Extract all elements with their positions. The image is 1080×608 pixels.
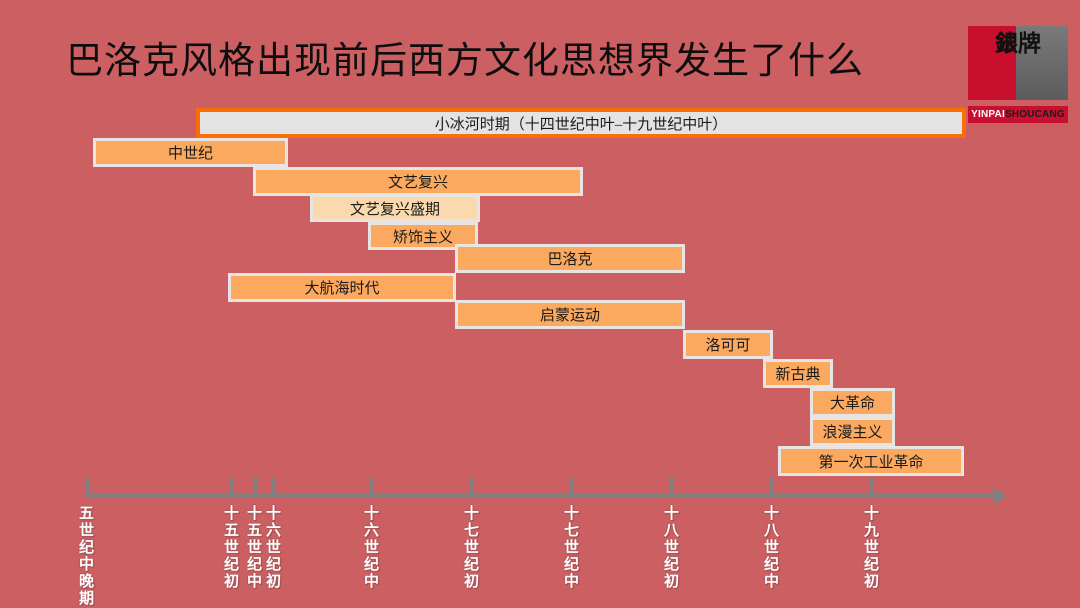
axis-tick-label: 十五世纪初 [223, 505, 238, 590]
logo-wordmark: YINPAISHOUCANG [968, 106, 1068, 123]
timeline-bar: 浪漫主义 [810, 417, 895, 446]
axis-tick-label: 十五世纪中 [246, 505, 261, 590]
timeline-bar-label: 大航海时代 [304, 277, 379, 298]
axis-tick-label: 十八世纪初 [663, 505, 678, 590]
axis-tick-label: 五世纪中晚期 [78, 505, 93, 607]
timeline-bar-label: 新古典 [775, 363, 820, 384]
timeline-bar: 第一次工业革命 [778, 446, 964, 476]
timeline-bar-label: 中世纪 [168, 142, 213, 163]
brand-logo: 法藏 銀牌 YINPAISHOUCANG [968, 26, 1068, 126]
axis-tick-label: 十六世纪中 [363, 505, 378, 590]
axis-tick-label: 十六世纪初 [265, 505, 280, 590]
axis-tick-label: 十八世纪中 [763, 505, 778, 590]
timeline-bar-label: 小冰河时期（十四世纪中叶–十九世纪中叶） [435, 113, 728, 134]
timeline-bar: 大航海时代 [228, 273, 456, 302]
axis-tick-label: 十九世纪初 [863, 505, 878, 590]
timeline-bar-label: 大革命 [830, 392, 875, 413]
timeline-bar: 中世纪 [93, 138, 288, 167]
timeline-bar-label: 矫饰主义 [393, 226, 453, 247]
timeline-bar: 文艺复兴 [253, 167, 583, 196]
slide-canvas: 巴洛克风格出现前后西方文化思想界发生了什么 法藏 銀牌 YINPAISHOUCA… [0, 0, 1080, 608]
timeline-bar: 洛可可 [683, 330, 773, 359]
page-title: 巴洛克风格出现前后西方文化思想界发生了什么 [0, 30, 930, 84]
timeline-bar-label: 浪漫主义 [822, 421, 882, 442]
timeline-bar-label: 文艺复兴 [388, 171, 448, 192]
timeline-bar-label: 第一次工业革命 [818, 451, 923, 472]
timeline-bar-ice-age: 小冰河时期（十四世纪中叶–十九世纪中叶） [196, 108, 966, 138]
timeline-bar: 新古典 [763, 359, 833, 388]
timeline-bar: 文艺复兴盛期 [310, 194, 480, 222]
timeline-bar: 启蒙运动 [455, 300, 685, 329]
timeline-bar-label: 文艺复兴盛期 [350, 198, 440, 219]
timeline-bar-label: 巴洛克 [547, 248, 592, 269]
timeline-bar: 大革命 [810, 388, 895, 417]
timeline-bar-label: 洛可可 [705, 334, 750, 355]
axis-tick-label: 十七世纪初 [463, 505, 478, 590]
timeline-bar-label: 启蒙运动 [540, 304, 600, 325]
axis-line [85, 494, 1000, 498]
timeline-bar: 巴洛克 [455, 244, 685, 273]
wordmark-part1: YINPAI [971, 109, 1005, 120]
wordmark-part2: SHOUCANG [1005, 109, 1065, 120]
axis-tick-label: 十七世纪中 [563, 505, 578, 590]
axis-arrow-icon [993, 487, 1007, 505]
